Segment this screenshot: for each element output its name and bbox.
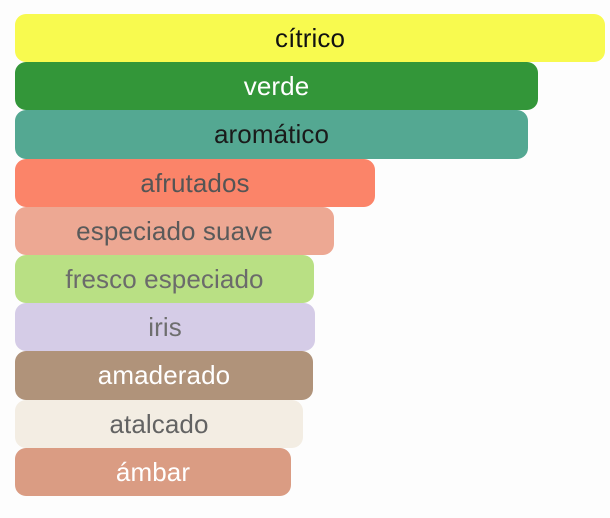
bar-label: especiado suave [76, 218, 273, 244]
bar-row[interactable]: iris [15, 303, 315, 351]
bar-row[interactable]: ámbar [15, 448, 291, 496]
bar-label: verde [244, 73, 310, 99]
bar-row[interactable]: especiado suave [15, 207, 334, 255]
bar-label: cítrico [275, 25, 345, 51]
bar-row[interactable]: afrutados [15, 159, 375, 207]
bar-row[interactable]: amaderado [15, 351, 313, 399]
bar-label: amaderado [98, 362, 230, 388]
bar-row[interactable]: cítrico [15, 14, 605, 62]
bar-row[interactable]: aromático [15, 110, 528, 158]
bar-label: ámbar [116, 459, 190, 485]
bar-label: iris [148, 314, 182, 340]
horizontal-bar-chart: cítrico verde aromático afrutados especi… [0, 0, 610, 518]
bar-row[interactable]: atalcado [15, 400, 303, 448]
bar-row[interactable]: fresco especiado [15, 255, 314, 303]
bar-row[interactable]: verde [15, 62, 538, 110]
bar-label: aromático [214, 121, 329, 147]
bar-label: afrutados [140, 170, 249, 196]
bar-label: fresco especiado [65, 266, 263, 292]
bar-label: atalcado [109, 411, 208, 437]
